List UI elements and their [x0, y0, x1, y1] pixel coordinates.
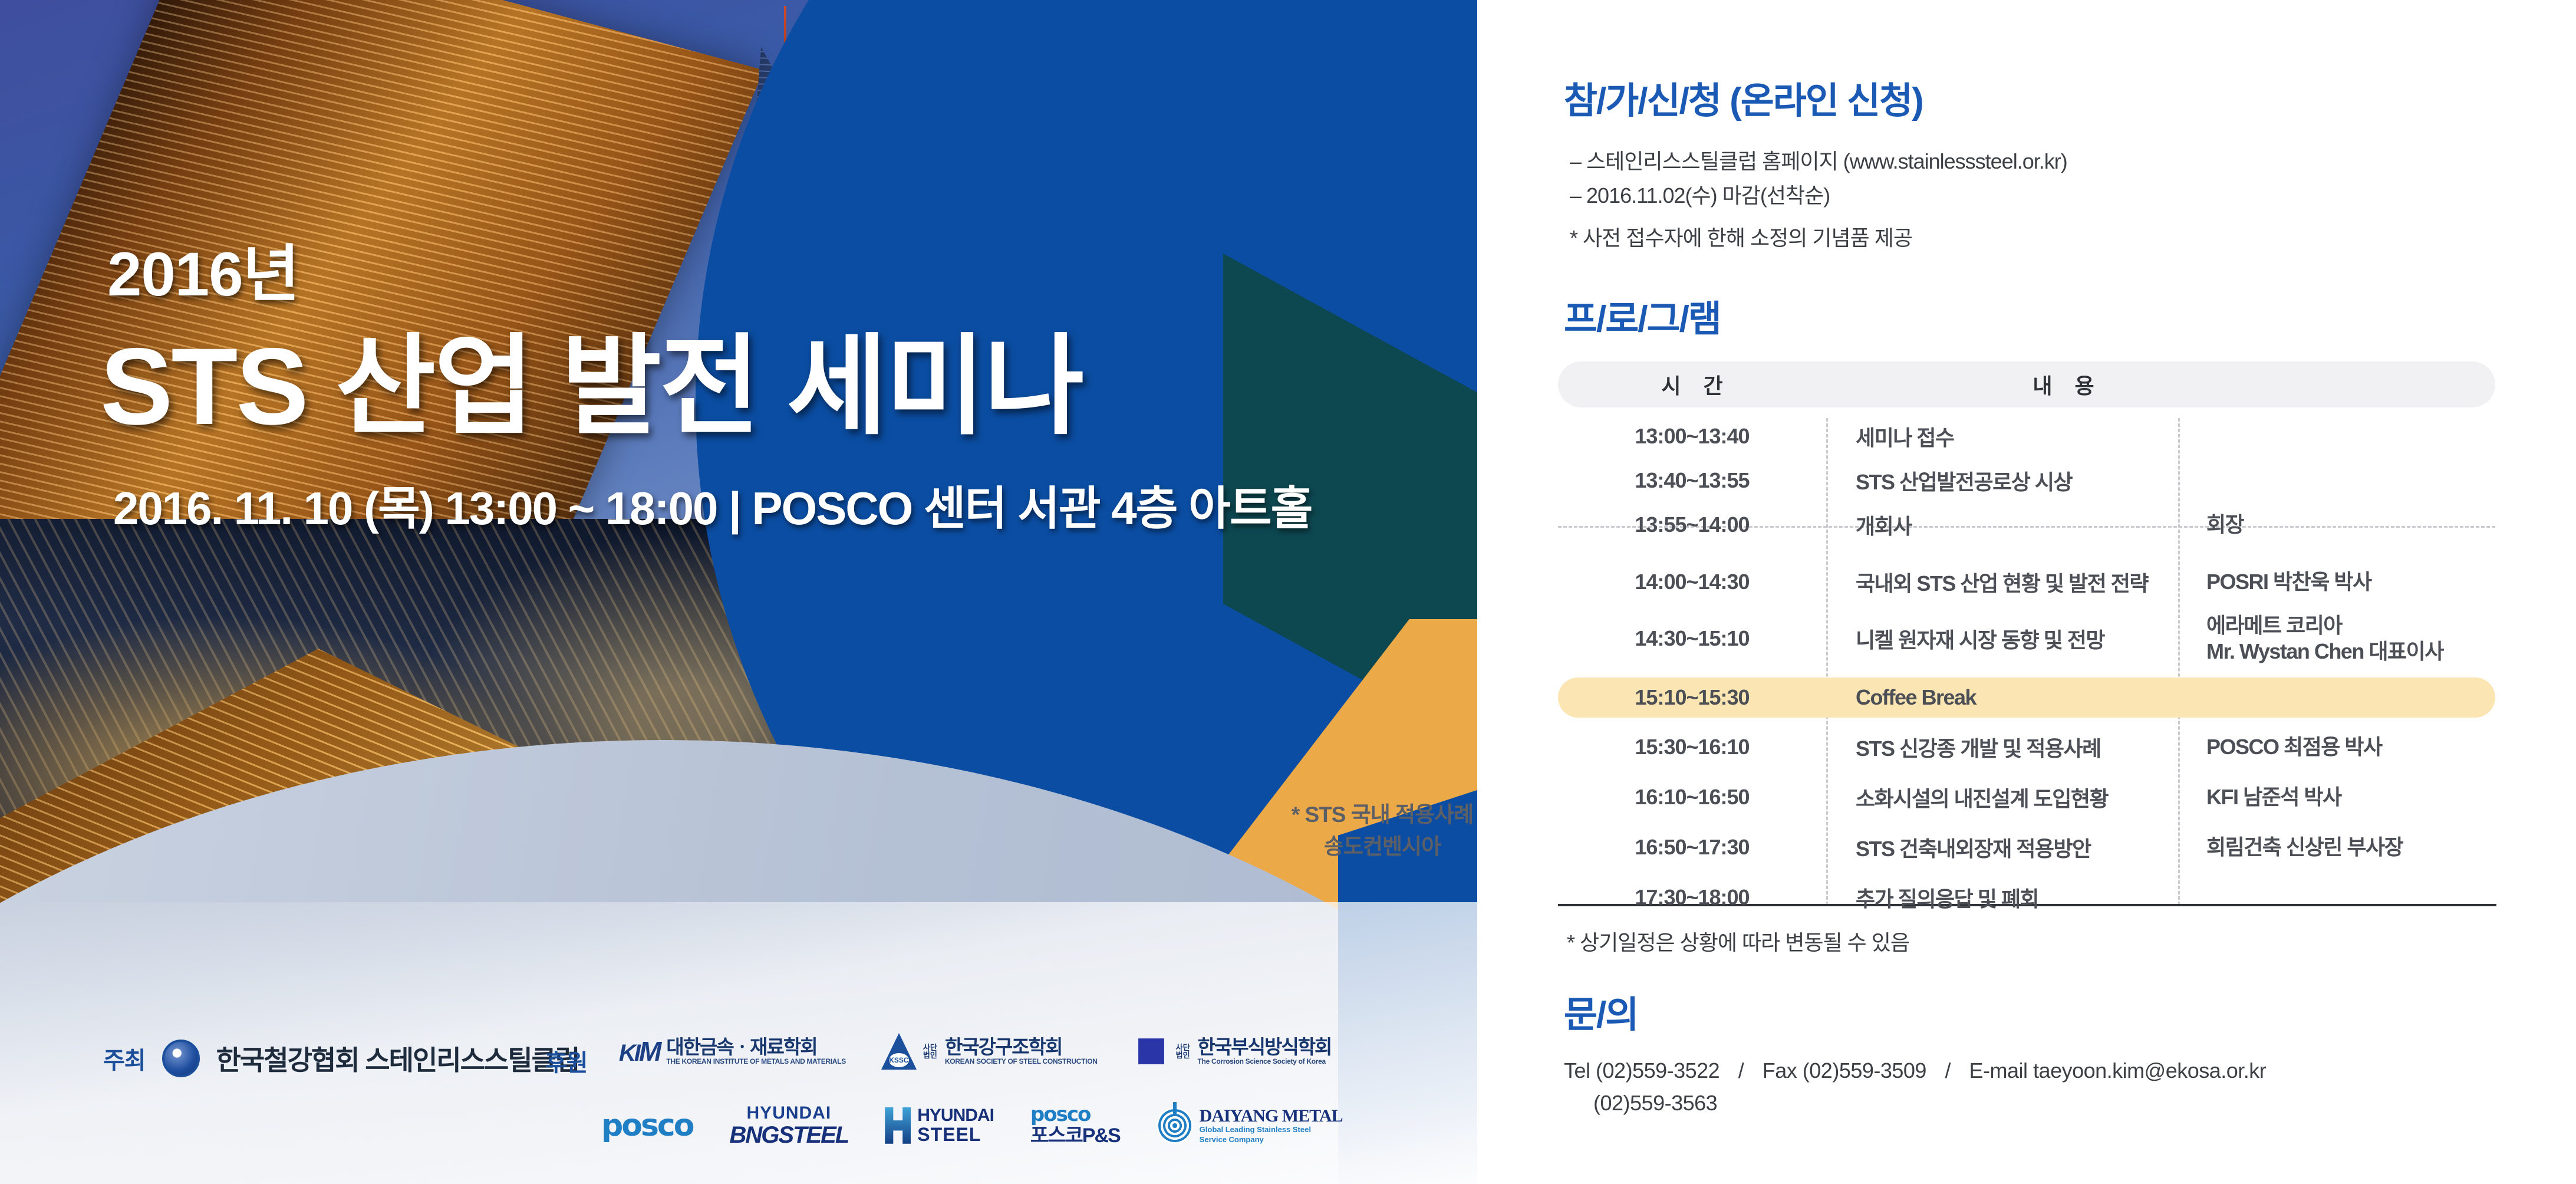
- row-time: 15:10~15:30: [1558, 685, 1826, 710]
- row-content: 국내외 STS 산업 현황 및 발전 전략: [1826, 567, 2178, 597]
- sponsor-logos-row-2: posco HYUNDAI BNGSTEEL HYUNDAI STEEL pos…: [601, 1104, 1343, 1147]
- hsteel-line-2: STEEL: [917, 1125, 994, 1145]
- table-row: 16:10~16:50 소화시설의 내진설계 도입현황 KFI 남준석 박사: [1558, 780, 2495, 815]
- table-row: 17:30~18:00 추가 질의응답 및 폐회: [1558, 880, 2495, 916]
- kssc-triangle-icon: KSSC: [881, 1033, 917, 1070]
- logo-hyundai-steel: HYUNDAI STEEL: [885, 1106, 994, 1144]
- row-speaker-line2: Mr. Wystan Chen 대표이사: [2206, 639, 2495, 665]
- sponsor-logos-row-1: KIΜ 대한금속ㆍ재료학회 THE KOREAN INSTITUTE OF ME…: [619, 1033, 1331, 1070]
- row-time: 14:30~15:10: [1558, 626, 1826, 651]
- cssk-prefix: 사단법인: [1176, 1044, 1190, 1059]
- apply-line-deadline: – 2016.11.02(수) 마감(선착순): [1570, 179, 2067, 213]
- logo-kim: KIΜ 대한금속ㆍ재료학회 THE KOREAN INSTITUTE OF ME…: [619, 1035, 846, 1067]
- kosa-seal-icon: [162, 1040, 200, 1077]
- contact-line-2: (02)559-3563: [1593, 1091, 1717, 1116]
- daiyang-line-3: Service Company: [1200, 1135, 1343, 1144]
- bng-line-2: BNGSTEEL: [729, 1123, 848, 1147]
- logo-posco: posco: [601, 1108, 693, 1143]
- logo-kssc-ko: 한국강구조학회: [945, 1037, 1098, 1058]
- row-time: 14:00~14:30: [1558, 570, 1826, 594]
- table-row: 15:30~16:10 STS 신강종 개발 및 적용사례 POSCO 최점용 …: [1558, 729, 2495, 765]
- program-table-header: 시 간 내 용: [1558, 361, 2495, 407]
- row-content: 소화시설의 내진설계 도입현황: [1826, 782, 2178, 813]
- seminar-poster: 2016년 STS 산업 발전 세미나 2016. 11. 10 (목) 13:…: [0, 0, 2576, 1184]
- pns-line-2: 포스코P&S: [1030, 1126, 1120, 1147]
- logo-cssk: 사단법인 한국부식방식학회 The Corrosion Science Soci…: [1133, 1033, 1332, 1070]
- logo-hyundai-bng-steel: HYUNDAI BNGSTEEL: [729, 1104, 848, 1147]
- column-header-content: 내 용: [1826, 369, 2495, 400]
- column-header-time: 시 간: [1558, 369, 1826, 400]
- logo-posco-pns: posco 포스코P&S: [1030, 1104, 1120, 1146]
- row-content: Coffee Break: [1826, 685, 2178, 710]
- row-speaker-group: 에라메트 코리아 Mr. Wystan Chen 대표이사: [2178, 613, 2495, 665]
- logo-cssk-ko: 한국부식방식학회: [1198, 1037, 1332, 1058]
- fax-value: (02)559-3509: [1803, 1058, 1926, 1083]
- logo-daiyang-metal: DAIYANG METAL Global Leading Stainless S…: [1157, 1107, 1343, 1144]
- contact-heading: 문/의: [1564, 985, 1638, 1038]
- photo-caption: * STS 국내 적용사례 송도컨벤시아: [1288, 799, 1477, 862]
- tel-label: Tel: [1564, 1058, 1590, 1083]
- logo-kim-ko: 대한금속ㆍ재료학회: [666, 1037, 846, 1058]
- poster-title-main: STS 산업 발전 세미나: [100, 298, 1082, 456]
- row-content: STS 신강종 개발 및 적용사례: [1826, 732, 2178, 762]
- apply-heading: 참/가/신/청 (온라인 신청): [1564, 71, 1923, 124]
- row-time: 13:00~13:40: [1558, 424, 1826, 449]
- table-row: 16:50~17:30 STS 건축내외장재 적용방안 희림건축 신상린 부사장: [1558, 830, 2495, 866]
- row-time: 16:10~16:50: [1558, 785, 1826, 810]
- fax-label: Fax: [1763, 1058, 1797, 1083]
- daiyang-line-1: DAIYANG METAL: [1200, 1107, 1343, 1126]
- tel-value-2: (02)559-3563: [1593, 1091, 1717, 1115]
- row-speaker: KFI 남준석 박사: [2178, 784, 2495, 810]
- panel-divider: [1477, 0, 1487, 1184]
- email-label: E-mail: [1969, 1058, 2028, 1083]
- contact-line-1: Tel (02)559-3522 / Fax (02)559-3509 / E-…: [1564, 1058, 2266, 1083]
- row-time: 15:30~16:10: [1558, 735, 1826, 759]
- host-organization-name: 한국철강협회 스테인리스스틸클럽: [216, 1039, 579, 1078]
- table-row: 14:00~14:30 국내외 STS 산업 현황 및 발전 전략 POSRI …: [1558, 564, 2495, 600]
- table-row: 13:00~13:40 세미나 접수: [1558, 418, 2495, 454]
- program-table-body: 13:00~13:40 세미나 접수 13:40~13:55 STS 산업발전공…: [1558, 418, 2495, 916]
- poster-title-subtitle: 2016. 11. 10 (목) 13:00 ~ 18:00 | POSCO 센…: [113, 472, 1312, 538]
- row-speaker: POSCO 최점용 박사: [2178, 734, 2495, 760]
- kim-icon: KIΜ: [619, 1035, 660, 1067]
- pns-line-1: posco: [1030, 1104, 1120, 1126]
- row-content: STS 산업발전공로상 시상: [1826, 465, 2178, 496]
- row-content: 추가 질의응답 및 폐회: [1826, 882, 2178, 913]
- table-row: 13:55~14:00 개회사 회장: [1558, 507, 2495, 542]
- daiyang-line-2: Global Leading Stainless Steel: [1200, 1125, 1343, 1134]
- hsteel-line-1: HYUNDAI: [917, 1106, 994, 1125]
- row-time: 16:50~17:30: [1558, 835, 1826, 860]
- email-value[interactable]: taeyoon.kim@ekosa.or.kr: [2033, 1058, 2266, 1083]
- table-row: 13:40~13:55 STS 산업발전공로상 시상: [1558, 462, 2495, 498]
- row-time: 17:30~18:00: [1558, 885, 1826, 910]
- row-speaker: 회장: [2178, 512, 2495, 538]
- row-content: STS 건축내외장재 적용방안: [1826, 832, 2178, 863]
- logo-kssc: KSSC 사단법인 한국강구조학회 KOREAN SOCIETY OF STEE…: [881, 1033, 1098, 1070]
- photo-caption-line-1: * STS 국내 적용사례: [1288, 799, 1477, 831]
- row-speaker: 에라메트 코리아: [2206, 613, 2495, 639]
- sponsor-label: 후원: [545, 1044, 588, 1078]
- row-time: 13:55~14:00: [1558, 512, 1826, 537]
- daiyang-target-icon: [1157, 1107, 1193, 1144]
- table-row: 14:30~15:10 니켈 원자재 시장 동향 및 전망 에라메트 코리아 M…: [1558, 613, 2495, 665]
- apply-line-website: – 스테인리스스틸클럽 홈페이지 (www.stainlesssteel.or.…: [1570, 144, 2067, 179]
- logo-cssk-en: The Corrosion Science Society of Korea: [1198, 1058, 1332, 1065]
- program-note: * 상기일정은 상황에 따라 변동될 수 있음: [1567, 926, 1909, 956]
- contact-separator-2: /: [1932, 1058, 1964, 1083]
- hyundai-steel-h-icon: [885, 1107, 911, 1144]
- row-content: 세미나 접수: [1826, 421, 2178, 452]
- logo-kim-en: THE KOREAN INSTITUTE OF METALS AND MATER…: [666, 1058, 846, 1065]
- left-visual-panel: 2016년 STS 산업 발전 세미나 2016. 11. 10 (목) 13:…: [0, 0, 1487, 1184]
- kssc-mark-text: KSSC: [889, 1053, 909, 1067]
- logo-kssc-en: KOREAN SOCIETY OF STEEL CONSTRUCTION: [945, 1058, 1098, 1065]
- apply-note: * 사전 접수자에 한해 소정의 기념품 제공: [1570, 221, 1912, 252]
- apply-lines: – 스테인리스스틸클럽 홈페이지 (www.stainlesssteel.or.…: [1570, 144, 2067, 213]
- row-content: 니켈 원자재 시장 동향 및 전망: [1826, 623, 2178, 654]
- host-row: 주최 한국철강협회 스테인리스스틸클럽: [103, 1039, 579, 1078]
- contact-separator-1: /: [1725, 1058, 1757, 1083]
- posco-wordmark-icon: posco: [601, 1108, 693, 1143]
- program-table: 시 간 내 용 13:00~13:40 세미나 접수 13:40~13:55 S…: [1558, 361, 2495, 916]
- row-speaker: 희림건축 신상린 부사장: [2178, 834, 2495, 860]
- tel-value: (02)559-3522: [1596, 1058, 1719, 1083]
- row-content: 개회사: [1826, 509, 2178, 540]
- kssc-prefix: 사단법인: [923, 1044, 937, 1059]
- row-time: 13:40~13:55: [1558, 468, 1826, 493]
- program-heading: 프/로/그/램: [1564, 289, 1721, 342]
- bng-line-1: HYUNDAI: [747, 1104, 832, 1123]
- photo-caption-line-2: 송도컨벤시아: [1288, 831, 1477, 863]
- row-speaker: POSRI 박찬욱 박사: [2178, 569, 2495, 595]
- right-content-panel: 참/가/신/청 (온라인 신청) – 스테인리스스틸클럽 홈페이지 (www.s…: [1487, 0, 2576, 1184]
- host-label: 주최: [103, 1041, 146, 1076]
- table-row-coffee-break: 15:10~15:30 Coffee Break: [1558, 677, 2495, 718]
- cssk-diamond-icon: [1125, 1025, 1177, 1077]
